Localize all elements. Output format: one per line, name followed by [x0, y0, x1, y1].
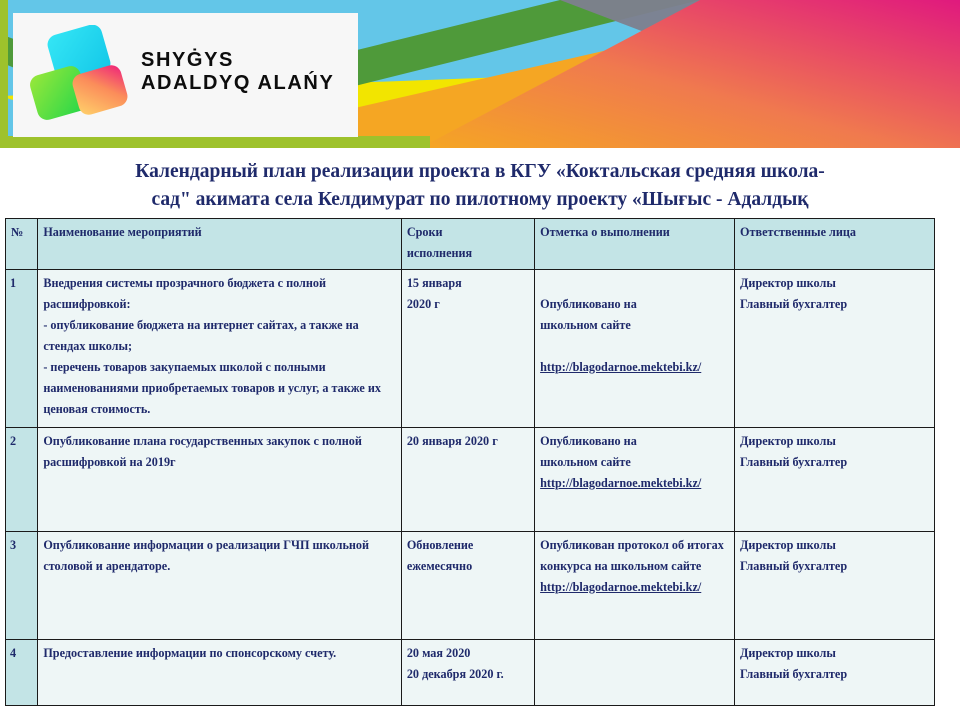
column-header-number: №	[6, 219, 38, 270]
table-row: 4 Предоставление информации по спонсорск…	[6, 640, 935, 706]
row-status-text: Опубликовано на школьном сайте	[540, 297, 637, 332]
table-header-row: № Наименование мероприятий Сроки исполне…	[6, 219, 935, 270]
row-status: Опубликован протокол об итогах конкурса …	[535, 532, 735, 640]
status-top-spacer	[540, 273, 729, 294]
page-title-line2: сад" акимата села Келдимурат по пилотном…	[30, 186, 930, 214]
shygys-logo-icon	[25, 25, 130, 125]
row-activity-name: Опубликование плана государственных заку…	[38, 428, 402, 532]
column-header-name: Наименование мероприятий	[38, 219, 402, 270]
row-deadline: 20 мая 2020 20 декабря 2020 г.	[401, 640, 534, 706]
column-header-status: Отметка о выполнении	[535, 219, 735, 270]
row-responsible: Директор школы Главный бухгалтер	[735, 640, 935, 706]
school-site-link[interactable]: http://blagodarnoe.mektebi.kz/	[540, 476, 701, 490]
row-activity-name: Внедрения системы прозрачного бюджета с …	[38, 270, 402, 428]
row-deadline: Обновление ежемесячно	[401, 532, 534, 640]
status-gap-spacer	[540, 336, 729, 357]
school-site-link[interactable]: http://blagodarnoe.mektebi.kz/	[540, 580, 701, 594]
row-responsible: Директор школы Главный бухгалтер	[735, 428, 935, 532]
row-activity-name: Предоставление информации по спонсорском…	[38, 640, 402, 706]
row-number: 3	[6, 532, 38, 640]
page-title-line1: Календарный план реализации проекта в КГ…	[30, 158, 930, 186]
school-site-link[interactable]: http://blagodarnoe.mektebi.kz/	[540, 360, 701, 374]
row-number: 2	[6, 428, 38, 532]
row-status: Опубликовано на школьном сайте http://bl…	[535, 428, 735, 532]
row-status: Опубликовано на школьном сайте http://bl…	[535, 270, 735, 428]
row-responsible: Директор школы Главный бухгалтер	[735, 532, 935, 640]
column-header-deadline: Сроки исполнения	[401, 219, 534, 270]
table-row: 2 Опубликование плана государственных за…	[6, 428, 935, 532]
row-status-text: Опубликован протокол об итогах конкурса …	[540, 538, 724, 573]
page-title: Календарный план реализации проекта в КГ…	[30, 158, 930, 214]
project-plan-table: № Наименование мероприятий Сроки исполне…	[5, 218, 935, 706]
table-row: 1 Внедрения системы прозрачного бюджета …	[6, 270, 935, 428]
row-number: 4	[6, 640, 38, 706]
logo-wordmark: SHYĠYS ADALDYQ ALAŃY	[141, 49, 334, 95]
header-banner: SHYĠYS ADALDYQ ALAŃY	[0, 0, 960, 148]
logo-card: SHYĠYS ADALDYQ ALAŃY	[13, 13, 358, 137]
row-status	[535, 640, 735, 706]
row-responsible: Директор школы Главный бухгалтер	[735, 270, 935, 428]
row-deadline: 15 января 2020 г	[401, 270, 534, 428]
column-header-responsible: Ответственные лица	[735, 219, 935, 270]
row-deadline: 20 января 2020 г	[401, 428, 534, 532]
row-number: 1	[6, 270, 38, 428]
table-row: 3 Опубликование информации о реализации …	[6, 532, 935, 640]
row-activity-name: Опубликование информации о реализации ГЧ…	[38, 532, 402, 640]
row-status-text: Опубликовано на школьном сайте	[540, 434, 637, 469]
